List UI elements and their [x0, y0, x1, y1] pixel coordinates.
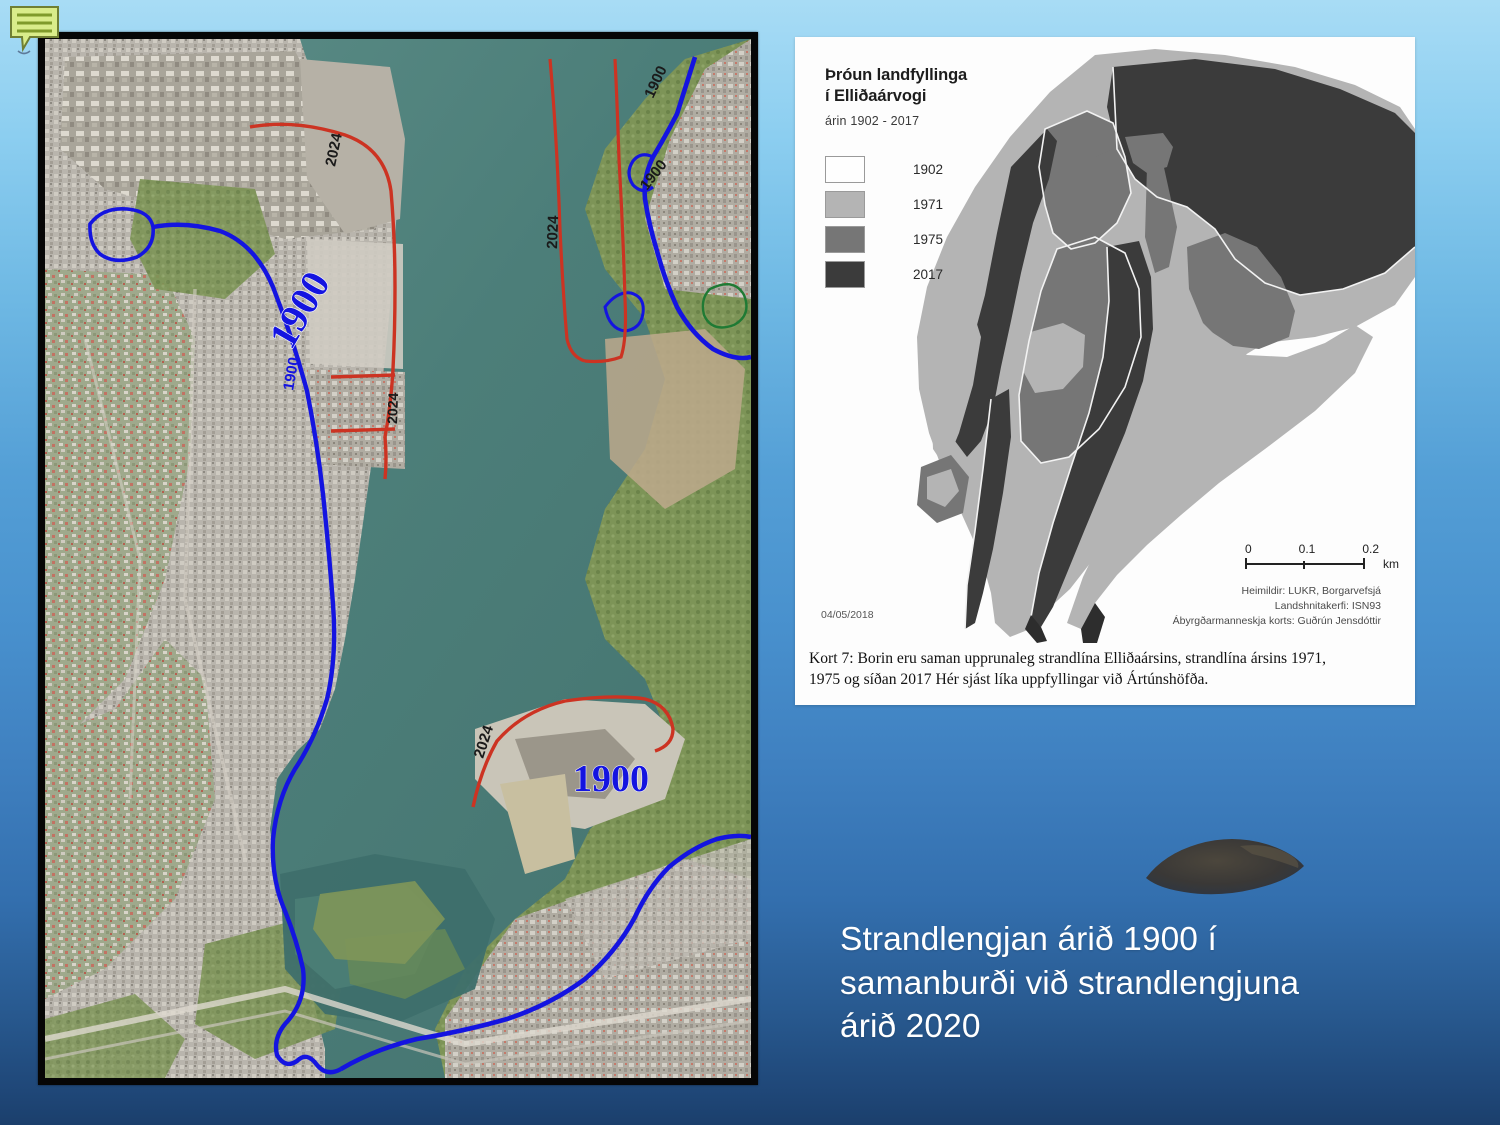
- legend-label-1971: 1971: [913, 197, 943, 212]
- comment-icon[interactable]: [8, 4, 64, 56]
- slide-title-line-2: samanburði við strandlengjuna: [840, 962, 1480, 1006]
- map-label-2024-c: 2024: [384, 392, 401, 424]
- legend-swatch-1902: [825, 156, 865, 183]
- comment-bubble-icon: [8, 4, 64, 56]
- slide-title-line-1: Strandlengjan árið 1900 í: [840, 918, 1480, 962]
- scale-bar-numbers: 0 0.1 0.2: [1245, 542, 1379, 558]
- legend-row-1902: 1902: [825, 154, 1085, 185]
- credit-source: Heimildir: LUKR, Borgarvefsjá: [1173, 584, 1381, 599]
- map-label-2024-b: 2024: [544, 215, 562, 250]
- legend-row-1975: 1975: [825, 224, 1085, 255]
- aerial-map-graphic: 1900 1900 1900 1900 1900 2024 2024 2024 …: [45, 39, 751, 1078]
- slide-title: Strandlengjan árið 1900 í samanburði við…: [840, 918, 1480, 1049]
- map-label-1900-large-south: 1900: [573, 758, 649, 800]
- caption-line-1: Kort 7: Borin eru saman upprunaleg stran…: [809, 649, 1397, 670]
- scale-tick-1: 0.1: [1299, 542, 1316, 556]
- island-shape-icon: [1140, 828, 1310, 902]
- scale-bar-line: km: [1245, 558, 1379, 569]
- scale-bar: 0 0.1 0.2 km: [1245, 542, 1379, 569]
- scale-tick-2: 0.2: [1362, 542, 1379, 556]
- legend-row-2017: 2017: [825, 259, 1085, 290]
- caption-line-2: 1975 og síðan 2017 Hér sjást líka uppfyl…: [809, 670, 1397, 691]
- legend-row-1971: 1971: [825, 189, 1085, 220]
- legend-items: 1902 1971 1975 2017: [825, 154, 1085, 290]
- inset-title-line1: Þróun landfyllinga: [825, 65, 1085, 86]
- credit-author: Ábyrgðarmanneskja korts: Guðrún Jensdótt…: [1173, 614, 1381, 629]
- slide-title-line-3: árið 2020: [840, 1005, 1480, 1049]
- inset-subtitle: árin 1902 - 2017: [825, 114, 1085, 128]
- map-date: 04/05/2018: [821, 609, 874, 621]
- legend-label-2017: 2017: [913, 267, 943, 282]
- island-rock: [1140, 828, 1310, 902]
- inset-legend: Þróun landfyllinga í Elliðaárvogi árin 1…: [825, 65, 1085, 294]
- legend-label-1975: 1975: [913, 232, 943, 247]
- credit-coordsys: Landshnitakerfi: ISN93: [1173, 599, 1381, 614]
- inset-title-line2: í Elliðaárvogi: [825, 86, 1085, 107]
- legend-swatch-1971: [825, 191, 865, 218]
- scale-tick-0: 0: [1245, 542, 1252, 556]
- inset-caption: Kort 7: Borin eru saman upprunaleg stran…: [795, 643, 1415, 705]
- aerial-photo-frame[interactable]: 1900 1900 1900 1900 1900 2024 2024 2024 …: [38, 32, 758, 1085]
- legend-swatch-2017: [825, 261, 865, 288]
- inset-map-card[interactable]: Þróun landfyllinga í Elliðaárvogi árin 1…: [795, 37, 1415, 705]
- inset-map-area: Þróun landfyllinga í Elliðaárvogi árin 1…: [795, 37, 1415, 643]
- legend-label-1902: 1902: [913, 162, 943, 177]
- inset-title: Þróun landfyllinga í Elliðaárvogi: [825, 65, 1085, 107]
- legend-swatch-1975: [825, 226, 865, 253]
- aerial-photo-image: 1900 1900 1900 1900 1900 2024 2024 2024 …: [45, 39, 751, 1078]
- scale-unit-label: km: [1383, 557, 1399, 571]
- map-credits: Heimildir: LUKR, Borgarvefsjá Landshnita…: [1173, 584, 1381, 629]
